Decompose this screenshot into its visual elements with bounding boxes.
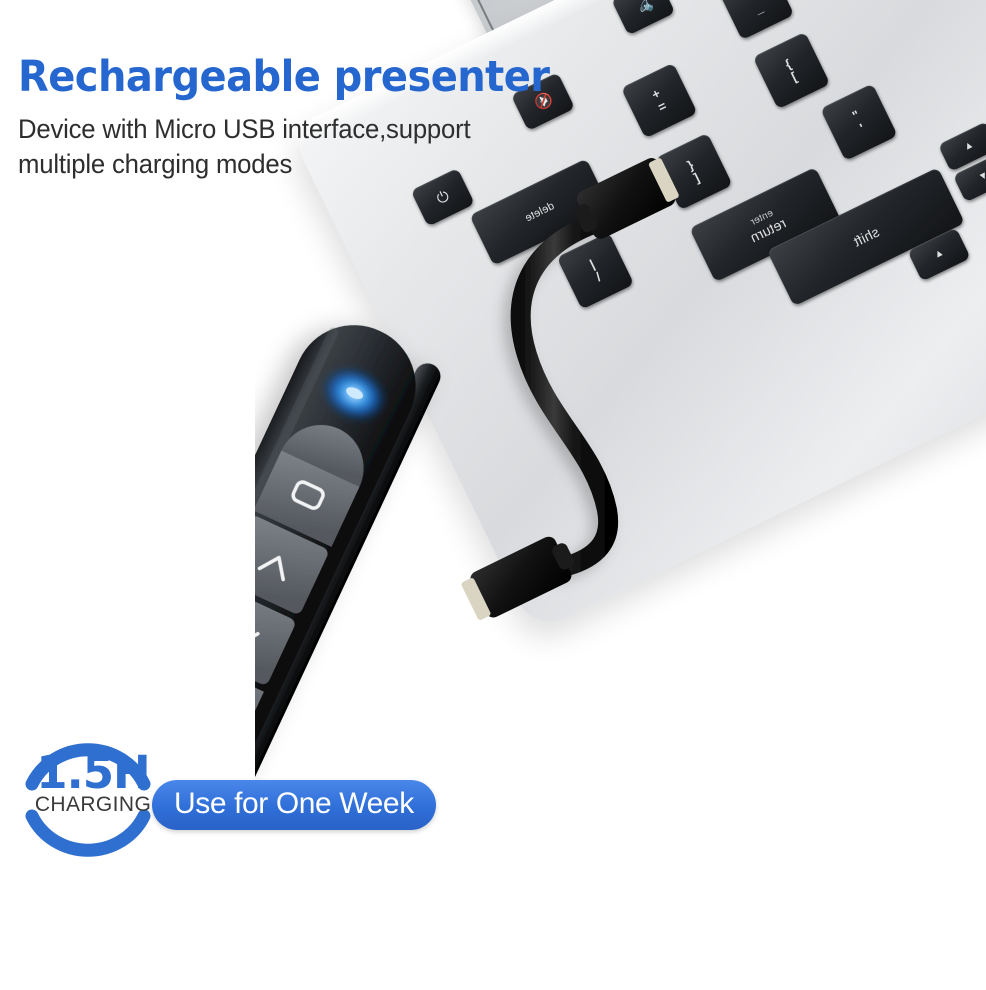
- key-bracket-right: }]: [753, 32, 831, 110]
- page-title: Rechargeable presenter: [18, 56, 557, 100]
- key-shift-label: shift: [850, 224, 881, 250]
- cable-body: [521, 220, 608, 566]
- usb-charging-cable: [455, 150, 735, 620]
- key-minus-label: —_: [744, 0, 768, 17]
- page-subtitle-line1: Device with Micro USB interface,support: [18, 112, 581, 148]
- product-marketing-image: 🔊 🔈 🔇 ⏻ —_ += delete }]: [0, 0, 986, 990]
- power-icon: ⏻: [434, 188, 451, 207]
- key-equal: +=: [621, 63, 698, 139]
- charging-arc-icon: [8, 712, 168, 882]
- key-f11: 🔈: [611, 0, 675, 35]
- key-equal-label: +=: [650, 87, 669, 115]
- key-minus: —_: [718, 0, 795, 40]
- usage-duration-badge: Use for One Week: [152, 780, 436, 830]
- arc-bottom: [32, 816, 144, 850]
- arrow-left-icon: ▲: [932, 248, 945, 261]
- arrow-up-icon: ▲: [962, 140, 975, 153]
- key-bracket-right-label: }]: [783, 57, 800, 84]
- marketing-copy: Rechargeable presenter Device with Micro…: [18, 56, 598, 183]
- usb-connector-presenter: [459, 531, 582, 620]
- key-quote: "': [820, 83, 898, 161]
- arrow-down-icon: ▼: [977, 170, 986, 183]
- charging-badge: 1.5H CHARGING: [8, 712, 168, 882]
- volume-low-icon: 🔈: [631, 0, 655, 17]
- key-quote-label: "': [850, 109, 868, 136]
- arc-top: [32, 750, 144, 784]
- page-subtitle-line2: multiple charging modes: [18, 147, 581, 183]
- page-subtitle: Device with Micro USB interface,support …: [18, 112, 581, 183]
